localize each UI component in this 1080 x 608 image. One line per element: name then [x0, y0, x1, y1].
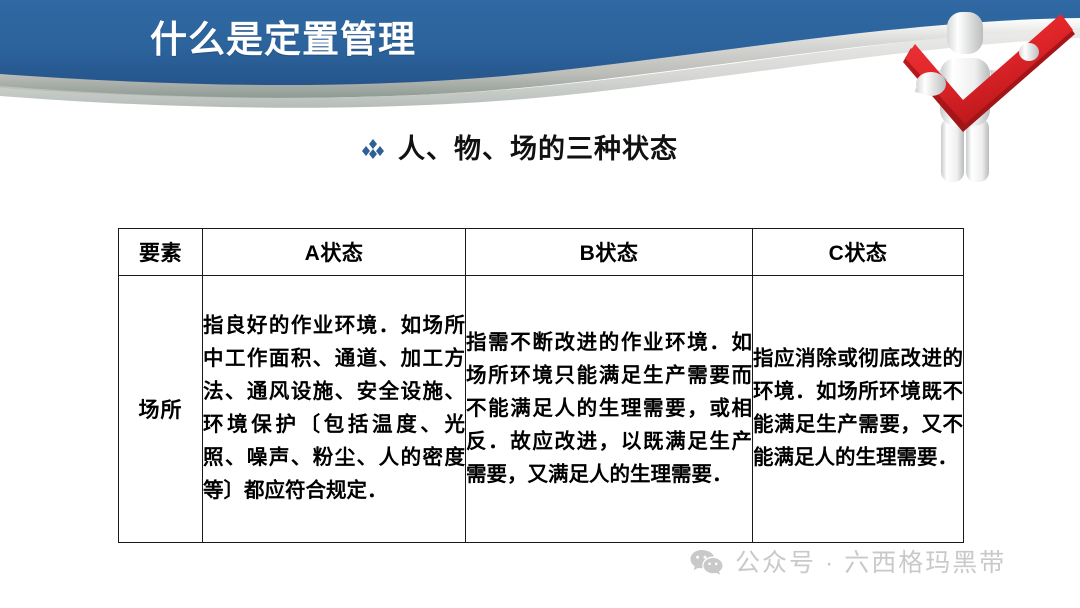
cell-state-b: 指需不断改进的作业环境．如场所环境只能满足生产需要而不能满足人的生理需要，或相反… [466, 276, 753, 543]
table-row: 场所 指良好的作业环境．如场所中工作面积、通道、加工方法、通风设施、安全设施、环… [119, 276, 964, 543]
column-header-state-c: C状态 [753, 229, 964, 276]
cell-state-c: 指应消除或彻底改进的环境．如场所环境既不能满足生产需要，又不能满足人的生理需要． [753, 276, 964, 543]
slide: 什么是定置管理 [0, 0, 1080, 608]
states-table: 要素 A状态 B状态 C状态 场所 指良好的作业环境．如场所中工作面积、通道、加… [118, 228, 964, 543]
figure-with-checkmark-icon [903, 0, 1078, 215]
page-title: 什么是定置管理 [150, 16, 750, 64]
table-header-row: 要素 A状态 B状态 C状态 [119, 229, 964, 276]
diamond-bullet-icon [362, 138, 384, 160]
watermark-text: 公众号 · 六西格玛黑带 [735, 548, 1006, 578]
column-header-factor: 要素 [119, 229, 203, 276]
cell-state-a: 指良好的作业环境．如场所中工作面积、通道、加工方法、通风设施、安全设施、环境保护… [203, 276, 466, 543]
column-header-state-a: A状态 [203, 229, 466, 276]
cell-factor: 场所 [119, 276, 203, 543]
column-header-state-b: B状态 [466, 229, 753, 276]
subtitle-text: 人、物、场的三种状态 [398, 132, 678, 166]
watermark: 公众号 · 六西格玛黑带 [690, 548, 1006, 578]
wechat-icon [690, 549, 723, 577]
